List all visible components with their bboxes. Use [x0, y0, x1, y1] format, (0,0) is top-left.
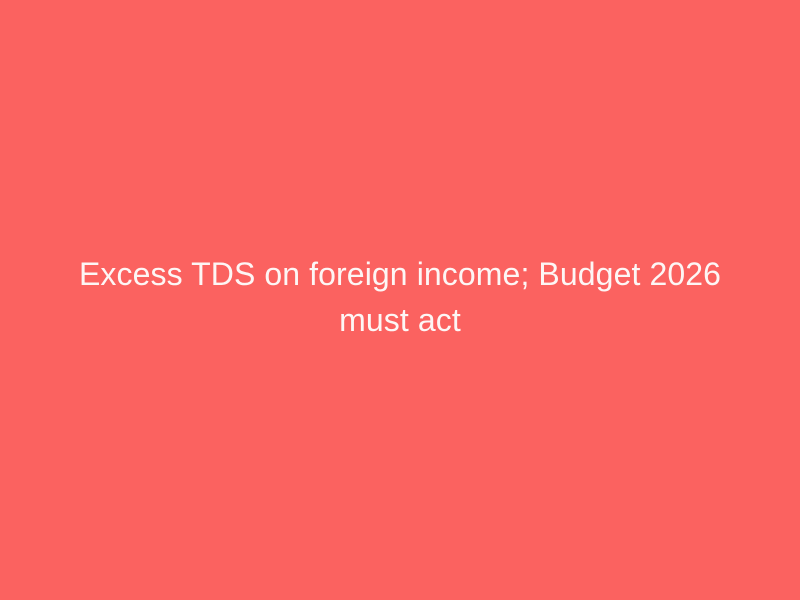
headline-text: Excess TDS on foreign income; Budget 202… — [64, 251, 736, 343]
article-preview-card: Excess TDS on foreign income; Budget 202… — [0, 0, 800, 600]
headline-block: Excess TDS on foreign income; Budget 202… — [64, 251, 736, 343]
